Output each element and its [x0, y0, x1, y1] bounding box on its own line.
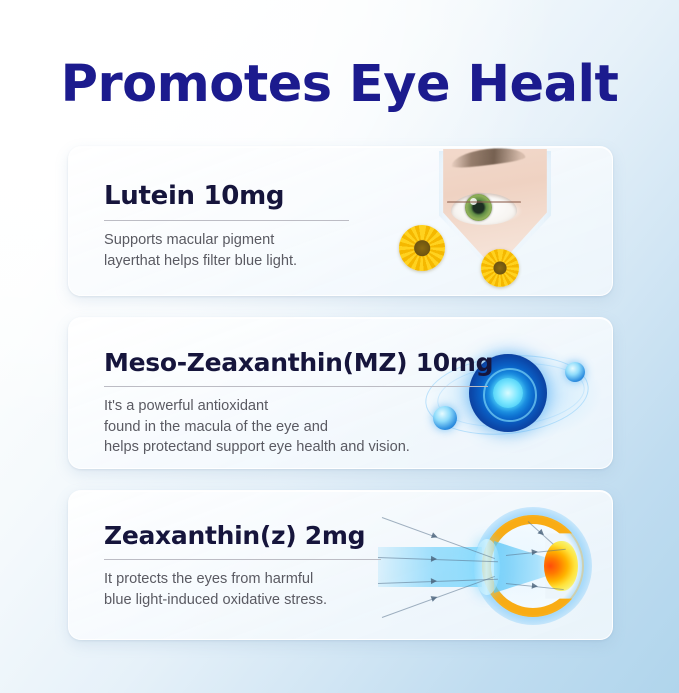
heading-divider: [104, 559, 381, 560]
page-title: Promotes Eye Healt: [0, 54, 679, 116]
body-line: Supports macular pigment: [104, 230, 612, 251]
body-line: blue light-induced oxidative stress.: [104, 590, 612, 611]
body-line: layerthat helps filter blue light.: [104, 251, 612, 272]
body-line: It's a powerful antioxidant: [104, 396, 612, 417]
card-heading: Meso-Zeaxanthin(MZ) 10mg: [104, 318, 612, 377]
card-body: It protects the eyes from harmful blue l…: [104, 569, 612, 610]
promo-banner: Promotes Eye Healt Lutein 10mg Supports …: [0, 0, 679, 693]
body-line: It protects the eyes from harmful: [104, 569, 612, 590]
heading-divider: [104, 220, 349, 221]
body-line: found in the macula of the eye and: [104, 417, 612, 438]
ingredient-card-zeaxanthin[interactable]: Zeaxanthin(z) 2mg It protects the eyes f…: [68, 490, 613, 640]
body-line: helps protectand support eye health and …: [104, 437, 612, 458]
heading-divider: [104, 386, 488, 387]
card-heading: Lutein 10mg: [104, 147, 612, 211]
ingredient-card-list: Lutein 10mg Supports macular pigment lay…: [68, 146, 613, 640]
card-body: Supports macular pigment layerthat helps…: [104, 230, 612, 271]
card-heading: Zeaxanthin(z) 2mg: [104, 491, 612, 550]
ingredient-card-lutein[interactable]: Lutein 10mg Supports macular pigment lay…: [68, 146, 613, 296]
ingredient-card-meso-zeaxanthin[interactable]: Meso-Zeaxanthin(MZ) 10mg It's a powerful…: [68, 317, 613, 469]
card-body: It's a powerful antioxidant found in the…: [104, 396, 612, 458]
